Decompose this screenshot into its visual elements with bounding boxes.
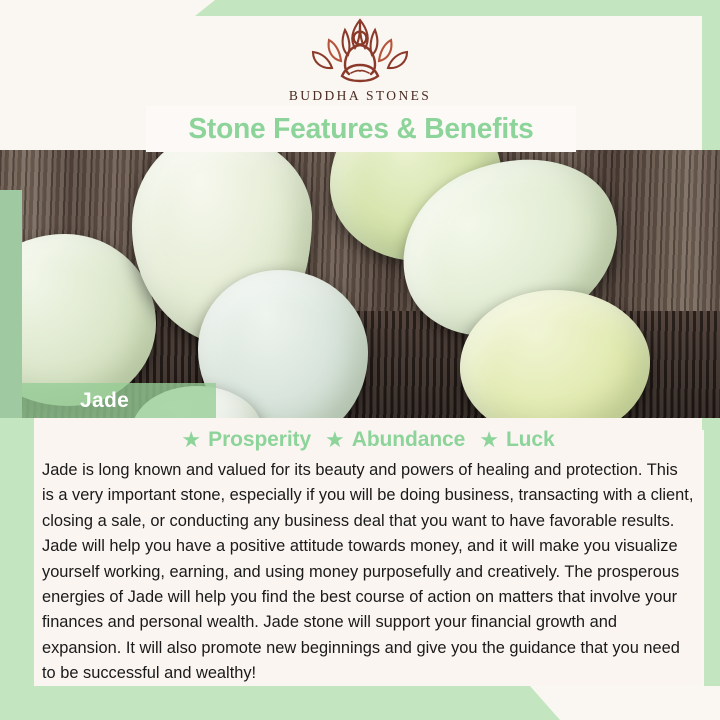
jade-stones-photo: [0, 150, 720, 418]
benefit-label: Luck: [506, 428, 555, 452]
page-title: Stone Features & Benefits: [188, 113, 533, 146]
benefit-item: ★ Abundance: [325, 428, 465, 452]
stone-name-badge: Jade: [22, 383, 216, 418]
star-icon: ★: [479, 429, 499, 451]
benefit-label: Prosperity: [208, 428, 311, 452]
star-icon: ★: [181, 429, 201, 451]
decor-band-bottom: [0, 686, 560, 720]
benefit-item: ★ Prosperity: [181, 428, 311, 452]
star-icon: ★: [325, 429, 345, 451]
brand-name: BUDDHA STONES: [260, 88, 460, 104]
benefits-row: ★ Prosperity ★ Abundance ★ Luck: [34, 428, 702, 452]
brand-logo: BUDDHA STONES: [260, 14, 460, 104]
stone-info-card: BUDDHA STONES Stone Features & Benefits …: [0, 0, 720, 720]
benefit-item: ★ Luck: [479, 428, 554, 452]
benefit-label: Abundance: [352, 428, 465, 452]
decor-band-left-photo: [0, 190, 22, 418]
lotus-meditation-icon: [285, 14, 435, 86]
decor-band-right-lower: [704, 418, 720, 686]
content-panel: ★ Prosperity ★ Abundance ★ Luck Jade is …: [34, 418, 702, 686]
title-banner: Stone Features & Benefits: [146, 106, 576, 152]
stone-description: Jade is long known and valued for its be…: [42, 458, 694, 687]
stone-name-label: Jade: [80, 389, 129, 413]
decor-band-left-lower: [0, 418, 34, 686]
